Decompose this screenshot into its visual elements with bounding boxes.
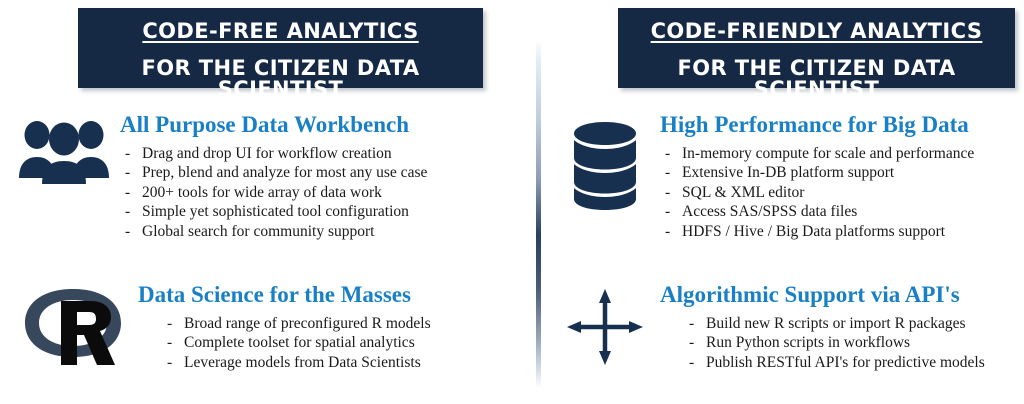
left-column-banner: CODE-FREE ANALYTICS FOR THE CITIZEN DATA…	[78, 8, 483, 88]
list-item: -Prep, blend and analyze for most any us…	[142, 163, 508, 182]
feature-data-science-for-the-masses: Data Science for the Masses -Broad range…	[8, 277, 508, 372]
bullet-marker: -	[689, 353, 694, 372]
bullet-marker: -	[125, 144, 130, 163]
bullet-marker: -	[167, 333, 172, 352]
list-item-label: Prep, blend and analyze for most any use…	[142, 164, 427, 181]
list-item-label: Extensive In-DB platform support	[682, 164, 894, 181]
list-item: -Drag and drop UI for workflow creation	[142, 144, 508, 163]
bullet-marker: -	[665, 163, 670, 182]
bullet-marker: -	[665, 222, 670, 241]
text-container: Algorithmic Support via API's -Build new…	[660, 277, 1020, 372]
feature-title: All Purpose Data Workbench	[120, 112, 508, 138]
icon-container	[550, 112, 660, 212]
bullet-marker: -	[665, 183, 670, 202]
list-item: -Global search for community support	[142, 222, 508, 241]
feature-title: Data Science for the Masses	[138, 282, 508, 308]
comparison-slide: CODE-FREE ANALYTICS FOR THE CITIZEN DATA…	[0, 0, 1024, 404]
list-item-label: Publish RESTful API's for predictive mod…	[706, 354, 985, 371]
icon-container	[8, 277, 138, 371]
list-item: -Access SAS/SPSS data files	[682, 202, 1020, 221]
bullet-marker: -	[125, 222, 130, 241]
icon-container	[8, 112, 120, 184]
list-item: -200+ tools for wide array of data work	[142, 183, 508, 202]
list-item: -Extensive In-DB platform support	[682, 163, 1020, 182]
bullet-marker: -	[665, 144, 670, 163]
left-banner-line-2: FOR THE CITIZEN DATA SCIENTIST	[78, 42, 483, 100]
list-item: -Run Python scripts in workflows	[706, 333, 1020, 352]
bullet-marker: -	[689, 333, 694, 352]
list-item-label: Run Python scripts in workflows	[706, 334, 910, 351]
feature-bullet-list: -Broad range of preconfigured R models -…	[138, 314, 508, 372]
feature-algorithmic-support-via-apis: Algorithmic Support via API's -Build new…	[550, 277, 1020, 372]
list-item: -Simple yet sophisticated tool configura…	[142, 202, 508, 221]
right-banner-line-2: FOR THE CITIZEN DATA SCIENTIST	[618, 42, 1015, 100]
bullet-marker: -	[125, 202, 130, 221]
feature-bullet-list: -In-memory compute for scale and perform…	[660, 144, 1020, 241]
left-banner-line-1: CODE-FREE ANALYTICS	[78, 8, 483, 42]
feature-bullet-list: -Drag and drop UI for workflow creation …	[120, 144, 508, 241]
list-item-label: Broad range of preconfigured R models	[184, 315, 431, 332]
text-container: All Purpose Data Workbench -Drag and dro…	[120, 112, 508, 241]
bullet-marker: -	[125, 163, 130, 182]
list-item-label: Global search for community support	[142, 223, 374, 240]
list-item-label: SQL & XML editor	[682, 184, 804, 201]
bullet-marker: -	[665, 202, 670, 221]
list-item-label: In-memory compute for scale and performa…	[682, 145, 974, 162]
feature-high-performance-for-big-data: High Performance for Big Data -In-memory…	[550, 112, 1020, 241]
feature-title: Algorithmic Support via API's	[660, 282, 1020, 308]
list-item: -Broad range of preconfigured R models	[184, 314, 508, 333]
list-item: -Complete toolset for spatial analytics	[184, 333, 508, 352]
list-item-label: Leverage models from Data Scientists	[184, 354, 421, 371]
right-column-banner: CODE-FRIENDLY ANALYTICS FOR THE CITIZEN …	[618, 8, 1015, 88]
list-item-label: Access SAS/SPSS data files	[682, 203, 857, 220]
list-item-label: Build new R scripts or import R packages	[706, 315, 966, 332]
list-item: -Publish RESTful API's for predictive mo…	[706, 353, 1020, 372]
list-item-label: Complete toolset for spatial analytics	[184, 334, 415, 351]
feature-title: High Performance for Big Data	[660, 112, 1020, 138]
text-container: Data Science for the Masses -Broad range…	[138, 277, 508, 372]
database-stack-icon	[570, 120, 640, 212]
people-group-icon	[16, 118, 112, 184]
bullet-marker: -	[125, 183, 130, 202]
text-container: High Performance for Big Data -In-memory…	[660, 112, 1020, 241]
list-item: -HDFS / Hive / Big Data platforms suppor…	[682, 222, 1020, 241]
list-item-label: Simple yet sophisticated tool configurat…	[142, 203, 409, 220]
feature-all-purpose-data-workbench: All Purpose Data Workbench -Drag and dro…	[8, 112, 508, 241]
list-item: -SQL & XML editor	[682, 183, 1020, 202]
list-item-label: HDFS / Hive / Big Data platforms support	[682, 223, 945, 240]
bullet-marker: -	[689, 314, 694, 333]
list-item: -In-memory compute for scale and perform…	[682, 144, 1020, 163]
feature-bullet-list: -Build new R scripts or import R package…	[660, 314, 1020, 372]
bullet-marker: -	[167, 314, 172, 333]
icon-container	[550, 277, 660, 367]
right-banner-line-1: CODE-FRIENDLY ANALYTICS	[618, 8, 1015, 42]
list-item-label: 200+ tools for wide array of data work	[142, 184, 382, 201]
r-language-logo-icon	[21, 279, 125, 371]
list-item-label: Drag and drop UI for workflow creation	[142, 145, 392, 162]
four-way-arrow-icon	[565, 287, 645, 367]
left-column: CODE-FREE ANALYTICS FOR THE CITIZEN DATA…	[0, 0, 512, 404]
list-item: -Leverage models from Data Scientists	[184, 353, 508, 372]
bullet-marker: -	[167, 353, 172, 372]
list-item: -Build new R scripts or import R package…	[706, 314, 1020, 333]
